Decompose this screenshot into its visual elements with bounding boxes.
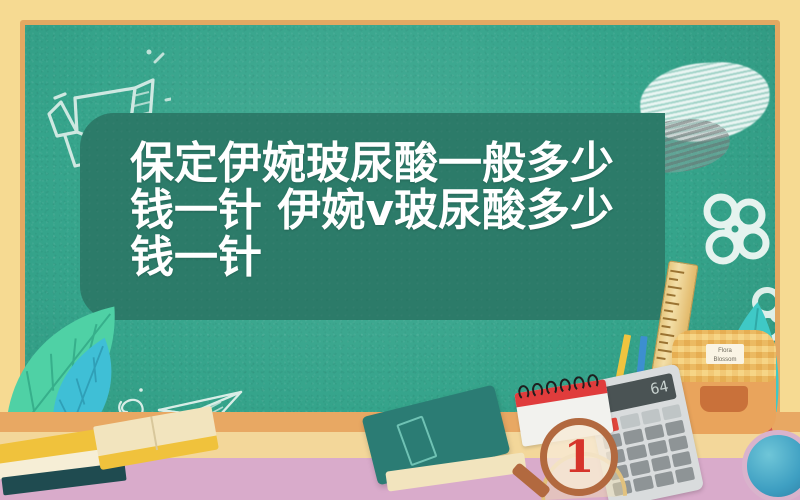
calculator-key (640, 408, 661, 425)
calculator-key (644, 424, 665, 441)
globe-icon (742, 430, 800, 500)
calculator-key (623, 428, 644, 445)
calculator-key (654, 471, 675, 488)
backpack-pocket (700, 386, 748, 412)
backpack-tag: Flora Blossom (706, 344, 744, 364)
calculator-key (665, 420, 686, 437)
calculator-key (630, 460, 651, 477)
calculator-key (661, 404, 682, 421)
calculator-key (650, 455, 671, 472)
calculator-key (668, 435, 689, 452)
screenshot-canvas: 保定伊婉玻尿酸一般多少钱一针 伊婉v玻尿酸多少钱一针 (0, 0, 800, 500)
backpack-flap: Flora Blossom (672, 330, 776, 382)
calculator-key (633, 475, 654, 492)
page-title: 保定伊婉玻尿酸一般多少钱一针 伊婉v玻尿酸多少钱一针 (130, 140, 622, 281)
calculator-key (671, 451, 692, 468)
calculator-key (647, 440, 668, 457)
calculator-key (626, 444, 647, 461)
magnifier-number: 1 (540, 418, 618, 496)
calculator-key (675, 467, 696, 484)
flower-large-icon (687, 185, 775, 277)
magnifying-glass-icon: 1 (540, 418, 618, 496)
calculator-key (620, 413, 641, 430)
